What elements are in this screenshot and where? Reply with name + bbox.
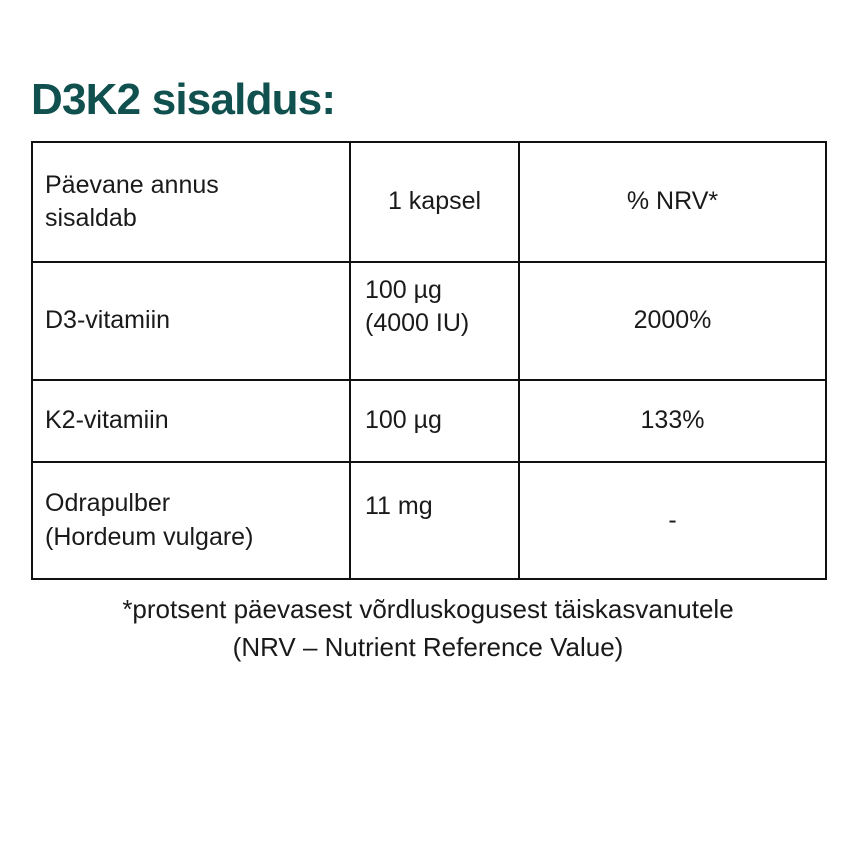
nrv-value: - [520,504,825,537]
nutrient-name-line1: D3-vitamiin [45,304,337,337]
row-amount: 100 µg [350,380,519,462]
footnote-line2: (NRV – Nutrient Reference Value) [0,629,856,667]
amount-line2: (4000 IU) [365,307,506,340]
nutrient-name-line1: Odrapulber [45,487,337,520]
header-nutrient-line1: Päevane annus [45,169,337,202]
table-header-row: Päevane annus sisaldab 1 kapsel % NRV* [32,142,826,262]
header-nrv-label: % NRV* [520,185,825,218]
header-cell-nrv: % NRV* [519,142,826,262]
row-nutrient-name: K2-vitamiin [32,380,350,462]
row-amount: 11 mg [350,462,519,579]
header-nutrient-line2: sisaldab [45,202,337,235]
table-row: K2-vitamiin 100 µg 133% [32,380,826,462]
amount-line1: 11 mg [365,490,506,523]
footnote-line1: *protsent päevasest võrdluskogusest täis… [0,591,856,629]
nutrition-table: Päevane annus sisaldab 1 kapsel % NRV* D… [31,141,827,580]
row-nrv: 2000% [519,262,826,380]
header-cell-amount: 1 kapsel [350,142,519,262]
amount-line1: 100 µg [365,404,506,437]
footnote: *protsent päevasest võrdluskogusest täis… [0,591,856,666]
page-title: D3K2 sisaldus: [31,75,335,126]
row-amount: 100 µg (4000 IU) [350,262,519,380]
nutrition-panel: D3K2 sisaldus: Päevane annus sisaldab 1 … [0,0,856,856]
amount-line1: 100 µg [365,274,506,307]
nutrient-name-line1: K2-vitamiin [45,404,337,437]
table-row: Odrapulber (Hordeum vulgare) 11 mg - [32,462,826,579]
row-nrv: 133% [519,380,826,462]
table-row: D3-vitamiin 100 µg (4000 IU) 2000% [32,262,826,380]
nutrient-name-line2: (Hordeum vulgare) [45,521,337,554]
header-cell-nutrient: Päevane annus sisaldab [32,142,350,262]
row-nrv: - [519,462,826,579]
nrv-value: 2000% [520,304,825,337]
nrv-value: 133% [520,404,825,437]
row-nutrient-name: Odrapulber (Hordeum vulgare) [32,462,350,579]
row-nutrient-name: D3-vitamiin [32,262,350,380]
header-amount-label: 1 kapsel [351,185,518,218]
